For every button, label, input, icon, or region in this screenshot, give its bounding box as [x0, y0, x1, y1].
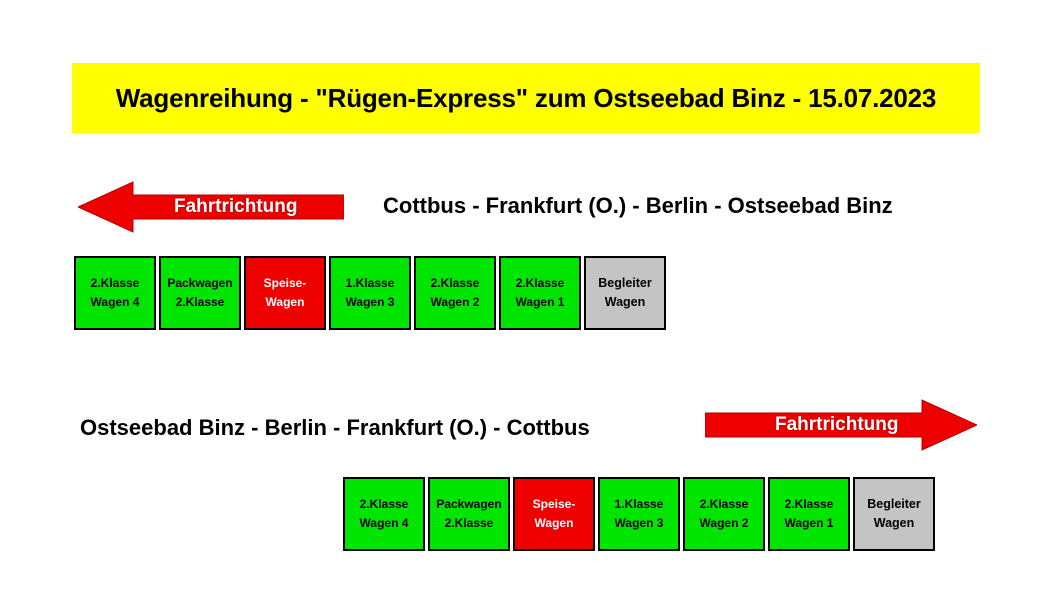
- wagon-line-2: Wagen 1: [785, 514, 834, 533]
- wagon-line-2: Wagen: [266, 293, 305, 312]
- route-heading-bottom: Ostseebad Binz - Berlin - Frankfurt (O.)…: [80, 415, 590, 441]
- wagon-card: Begleiter Wagen: [584, 256, 666, 330]
- wagon-card: 1.Klasse Wagen 3: [598, 477, 680, 551]
- wagon-line-2: Wagen: [605, 293, 646, 312]
- wagon-line-2: Wagen 4: [91, 293, 140, 312]
- wagon-row-bottom: 2.Klasse Wagen 4 Packwagen 2.Klasse Spei…: [343, 477, 935, 551]
- wagon-line-1: Begleiter: [598, 274, 652, 293]
- diagram-canvas: Wagenreihung - "Rügen-Express" zum Ostse…: [0, 0, 1063, 598]
- page-title: Wagenreihung - "Rügen-Express" zum Ostse…: [116, 83, 936, 114]
- wagon-card: Packwagen 2.Klasse: [159, 256, 241, 330]
- arrow-right-icon: [705, 396, 977, 454]
- wagon-line-1: 2.Klasse: [700, 495, 749, 514]
- wagon-card: 2.Klasse Wagen 1: [768, 477, 850, 551]
- wagon-line-1: 2.Klasse: [516, 274, 565, 293]
- wagon-card: Speise- Wagen: [513, 477, 595, 551]
- wagon-line-1: 2.Klasse: [360, 495, 409, 514]
- wagon-row-top: 2.Klasse Wagen 4 Packwagen 2.Klasse Spei…: [74, 256, 666, 330]
- wagon-card: 2.Klasse Wagen 2: [683, 477, 765, 551]
- wagon-line-1: 2.Klasse: [785, 495, 834, 514]
- wagon-line-1: Speise-: [533, 495, 576, 514]
- wagon-card: 2.Klasse Wagen 4: [343, 477, 425, 551]
- wagon-card: Packwagen 2.Klasse: [428, 477, 510, 551]
- wagon-line-1: Packwagen: [436, 495, 501, 514]
- title-banner: Wagenreihung - "Rügen-Express" zum Ostse…: [72, 63, 980, 133]
- wagon-line-2: 2.Klasse: [445, 514, 494, 533]
- wagon-line-2: Wagen 3: [615, 514, 664, 533]
- wagon-card: 2.Klasse Wagen 1: [499, 256, 581, 330]
- wagon-card: Begleiter Wagen: [853, 477, 935, 551]
- wagon-card: 2.Klasse Wagen 4: [74, 256, 156, 330]
- wagon-line-2: Wagen: [535, 514, 574, 533]
- direction-arrow-right: Fahrtrichtung: [705, 396, 977, 454]
- wagon-line-1: 1.Klasse: [615, 495, 664, 514]
- wagon-line-2: Wagen: [874, 514, 915, 533]
- wagon-line-2: Wagen 1: [516, 293, 565, 312]
- wagon-card: 1.Klasse Wagen 3: [329, 256, 411, 330]
- direction-arrow-left: Fahrtrichtung: [78, 178, 344, 236]
- wagon-line-2: Wagen 3: [346, 293, 395, 312]
- wagon-line-1: Speise-: [264, 274, 307, 293]
- wagon-line-1: Packwagen: [167, 274, 232, 293]
- wagon-card: 2.Klasse Wagen 2: [414, 256, 496, 330]
- arrow-left-icon: [78, 178, 344, 236]
- wagon-line-1: 1.Klasse: [346, 274, 395, 293]
- route-heading-top: Cottbus - Frankfurt (O.) - Berlin - Osts…: [383, 193, 893, 219]
- wagon-line-2: 2.Klasse: [176, 293, 225, 312]
- wagon-line-1: 2.Klasse: [431, 274, 480, 293]
- wagon-line-2: Wagen 2: [431, 293, 480, 312]
- wagon-line-2: Wagen 4: [360, 514, 409, 533]
- wagon-line-2: Wagen 2: [700, 514, 749, 533]
- wagon-card: Speise- Wagen: [244, 256, 326, 330]
- wagon-line-1: 2.Klasse: [91, 274, 140, 293]
- wagon-line-1: Begleiter: [867, 495, 921, 514]
